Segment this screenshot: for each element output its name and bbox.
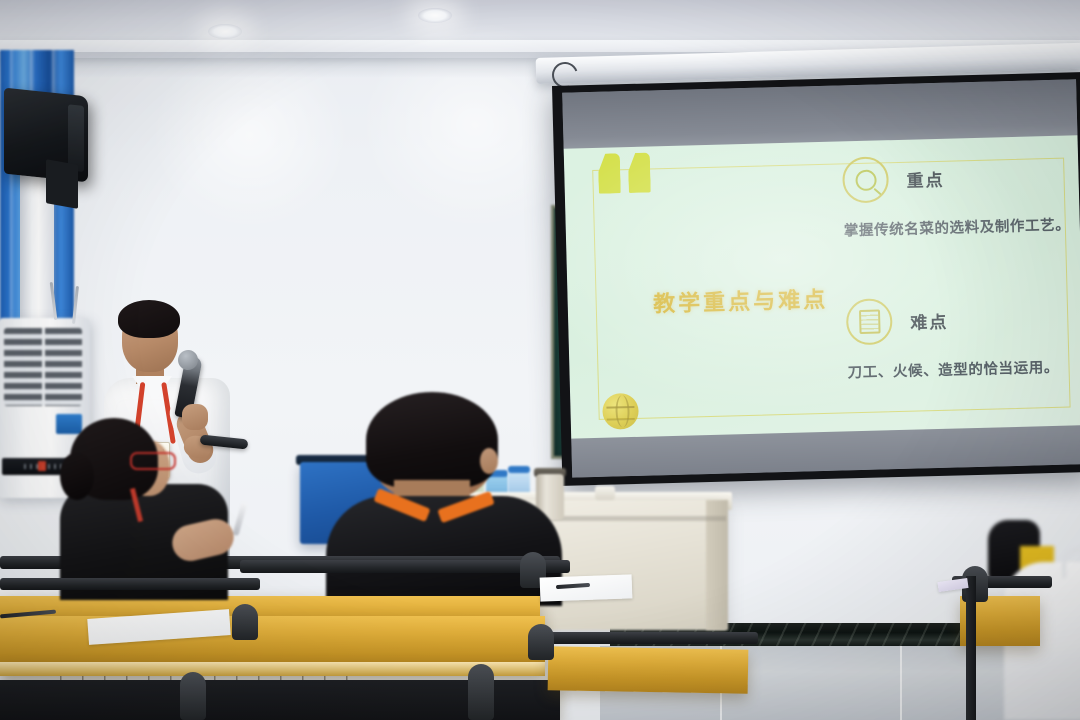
projection-screen: 教学重点与难点 重点 掌握传统名菜的选料及制作工艺。 bbox=[552, 72, 1080, 486]
desk-post bbox=[232, 604, 258, 640]
desk-post bbox=[468, 664, 494, 720]
desk-leg bbox=[966, 576, 976, 720]
desk-row-right bbox=[548, 646, 749, 693]
ceiling-downlight-icon bbox=[418, 8, 452, 23]
attendee-ear bbox=[480, 448, 498, 474]
globe-icon bbox=[602, 393, 639, 430]
attendee-woman-glasses bbox=[52, 418, 242, 598]
ceiling-downlight-icon bbox=[208, 24, 242, 39]
ac-divider bbox=[42, 328, 45, 406]
block-label-key-points: 重点 bbox=[906, 165, 945, 191]
classroom-photo: 教学重点与难点 重点 掌握传统名菜的选料及制作工艺。 bbox=[0, 0, 1080, 720]
desk-post bbox=[180, 672, 206, 720]
slide-block-difficulties: 难点 刀工、火候、造型的恰当运用。 bbox=[846, 293, 1078, 386]
ac-power-indicator bbox=[38, 461, 46, 471]
desk-front-rail bbox=[0, 578, 260, 590]
magnifier-icon bbox=[842, 156, 889, 203]
attendee-hair-bun bbox=[60, 452, 94, 500]
presenter-hair bbox=[118, 300, 180, 338]
hanger-hook-icon bbox=[1062, 548, 1080, 578]
speaker-grille bbox=[68, 104, 84, 172]
small-cup bbox=[595, 486, 615, 500]
presentation-slide: 教学重点与难点 重点 掌握传统名菜的选料及制作工艺。 bbox=[564, 135, 1080, 438]
speaker-bracket bbox=[46, 159, 78, 209]
attendee-hair bbox=[366, 392, 498, 488]
white-papers bbox=[540, 574, 633, 601]
slide-title: 教学重点与难点 bbox=[615, 281, 866, 320]
floor-tile-seam bbox=[900, 646, 902, 720]
slide-block-key-points: 重点 掌握传统名菜的选料及制作工艺。 bbox=[842, 151, 1074, 244]
desk-rail-far-right bbox=[548, 632, 758, 644]
desk-post bbox=[528, 624, 554, 660]
block-label-difficulties: 难点 bbox=[910, 307, 949, 333]
eyeglasses bbox=[130, 452, 176, 470]
desk-edge-front bbox=[0, 662, 545, 676]
screen-surface: 教学重点与难点 重点 掌握传统名菜的选料及制作工艺。 bbox=[562, 79, 1080, 477]
desk-row-front bbox=[0, 616, 545, 668]
quote-mark-icon bbox=[598, 152, 657, 196]
book-icon bbox=[846, 298, 893, 345]
